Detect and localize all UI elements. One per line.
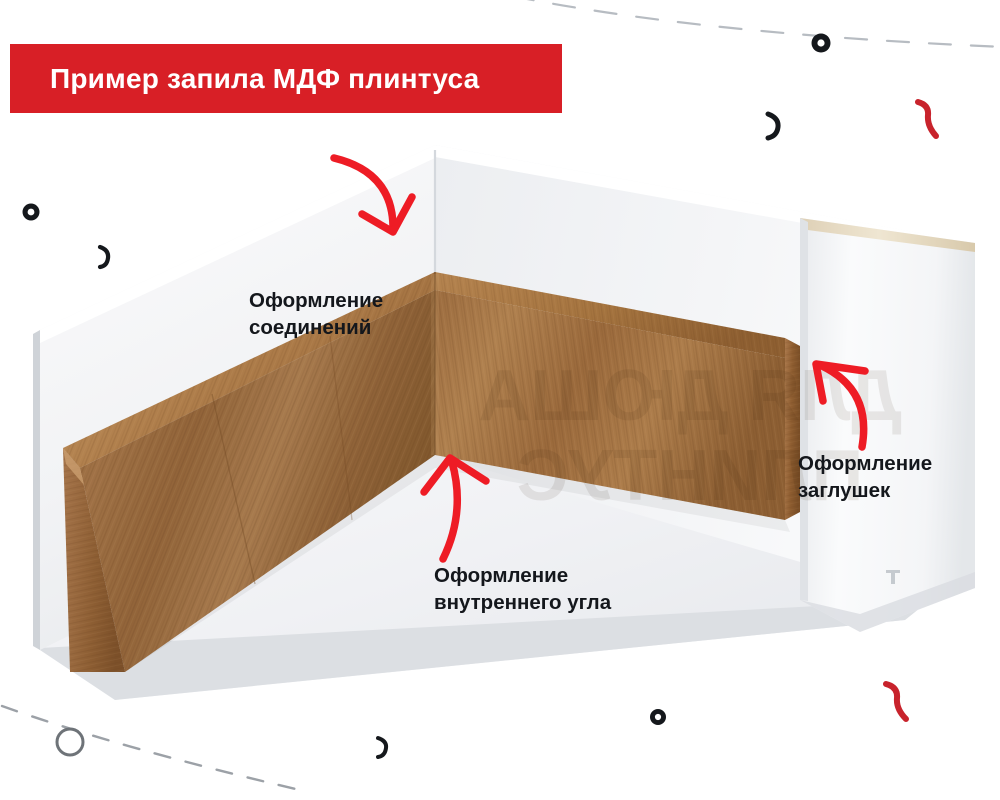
page-root: ДЛЯ ДЮША ПЛИНТУС Пример запила МДФ плин — [0, 0, 1000, 800]
label-end-caps: Оформление заглушек — [798, 450, 932, 505]
plinth-corner-assembly: ДЛЯ ДЮША ПЛИНТУС — [33, 145, 975, 700]
wall-panel-left-side-edge — [33, 330, 40, 650]
banner-title: Пример запила МДФ плинтуса — [10, 63, 479, 95]
ring-bottom — [650, 709, 666, 725]
scene-illustration: ДЛЯ ДЮША ПЛИНТУС — [0, 0, 1000, 800]
label-joints: Оформление соединений — [249, 287, 383, 342]
ring-left — [23, 204, 40, 221]
label-inner-corner: Оформление внутреннего угла — [434, 562, 611, 617]
arc-left — [100, 247, 108, 267]
squiggle-bottom-right — [886, 684, 906, 719]
arc-bottom — [378, 738, 386, 757]
dashed-curve-bottom — [2, 706, 300, 790]
plinth-inner-corner-highlight — [431, 274, 439, 455]
squiggle-top-right — [918, 102, 936, 136]
dashed-curve-top — [512, 0, 1000, 47]
arc-top-right — [768, 114, 778, 138]
ring-top-right — [812, 34, 831, 53]
title-banner: Пример запила МДФ плинтуса — [10, 44, 562, 113]
circle-outline-bottom-left — [57, 729, 83, 755]
